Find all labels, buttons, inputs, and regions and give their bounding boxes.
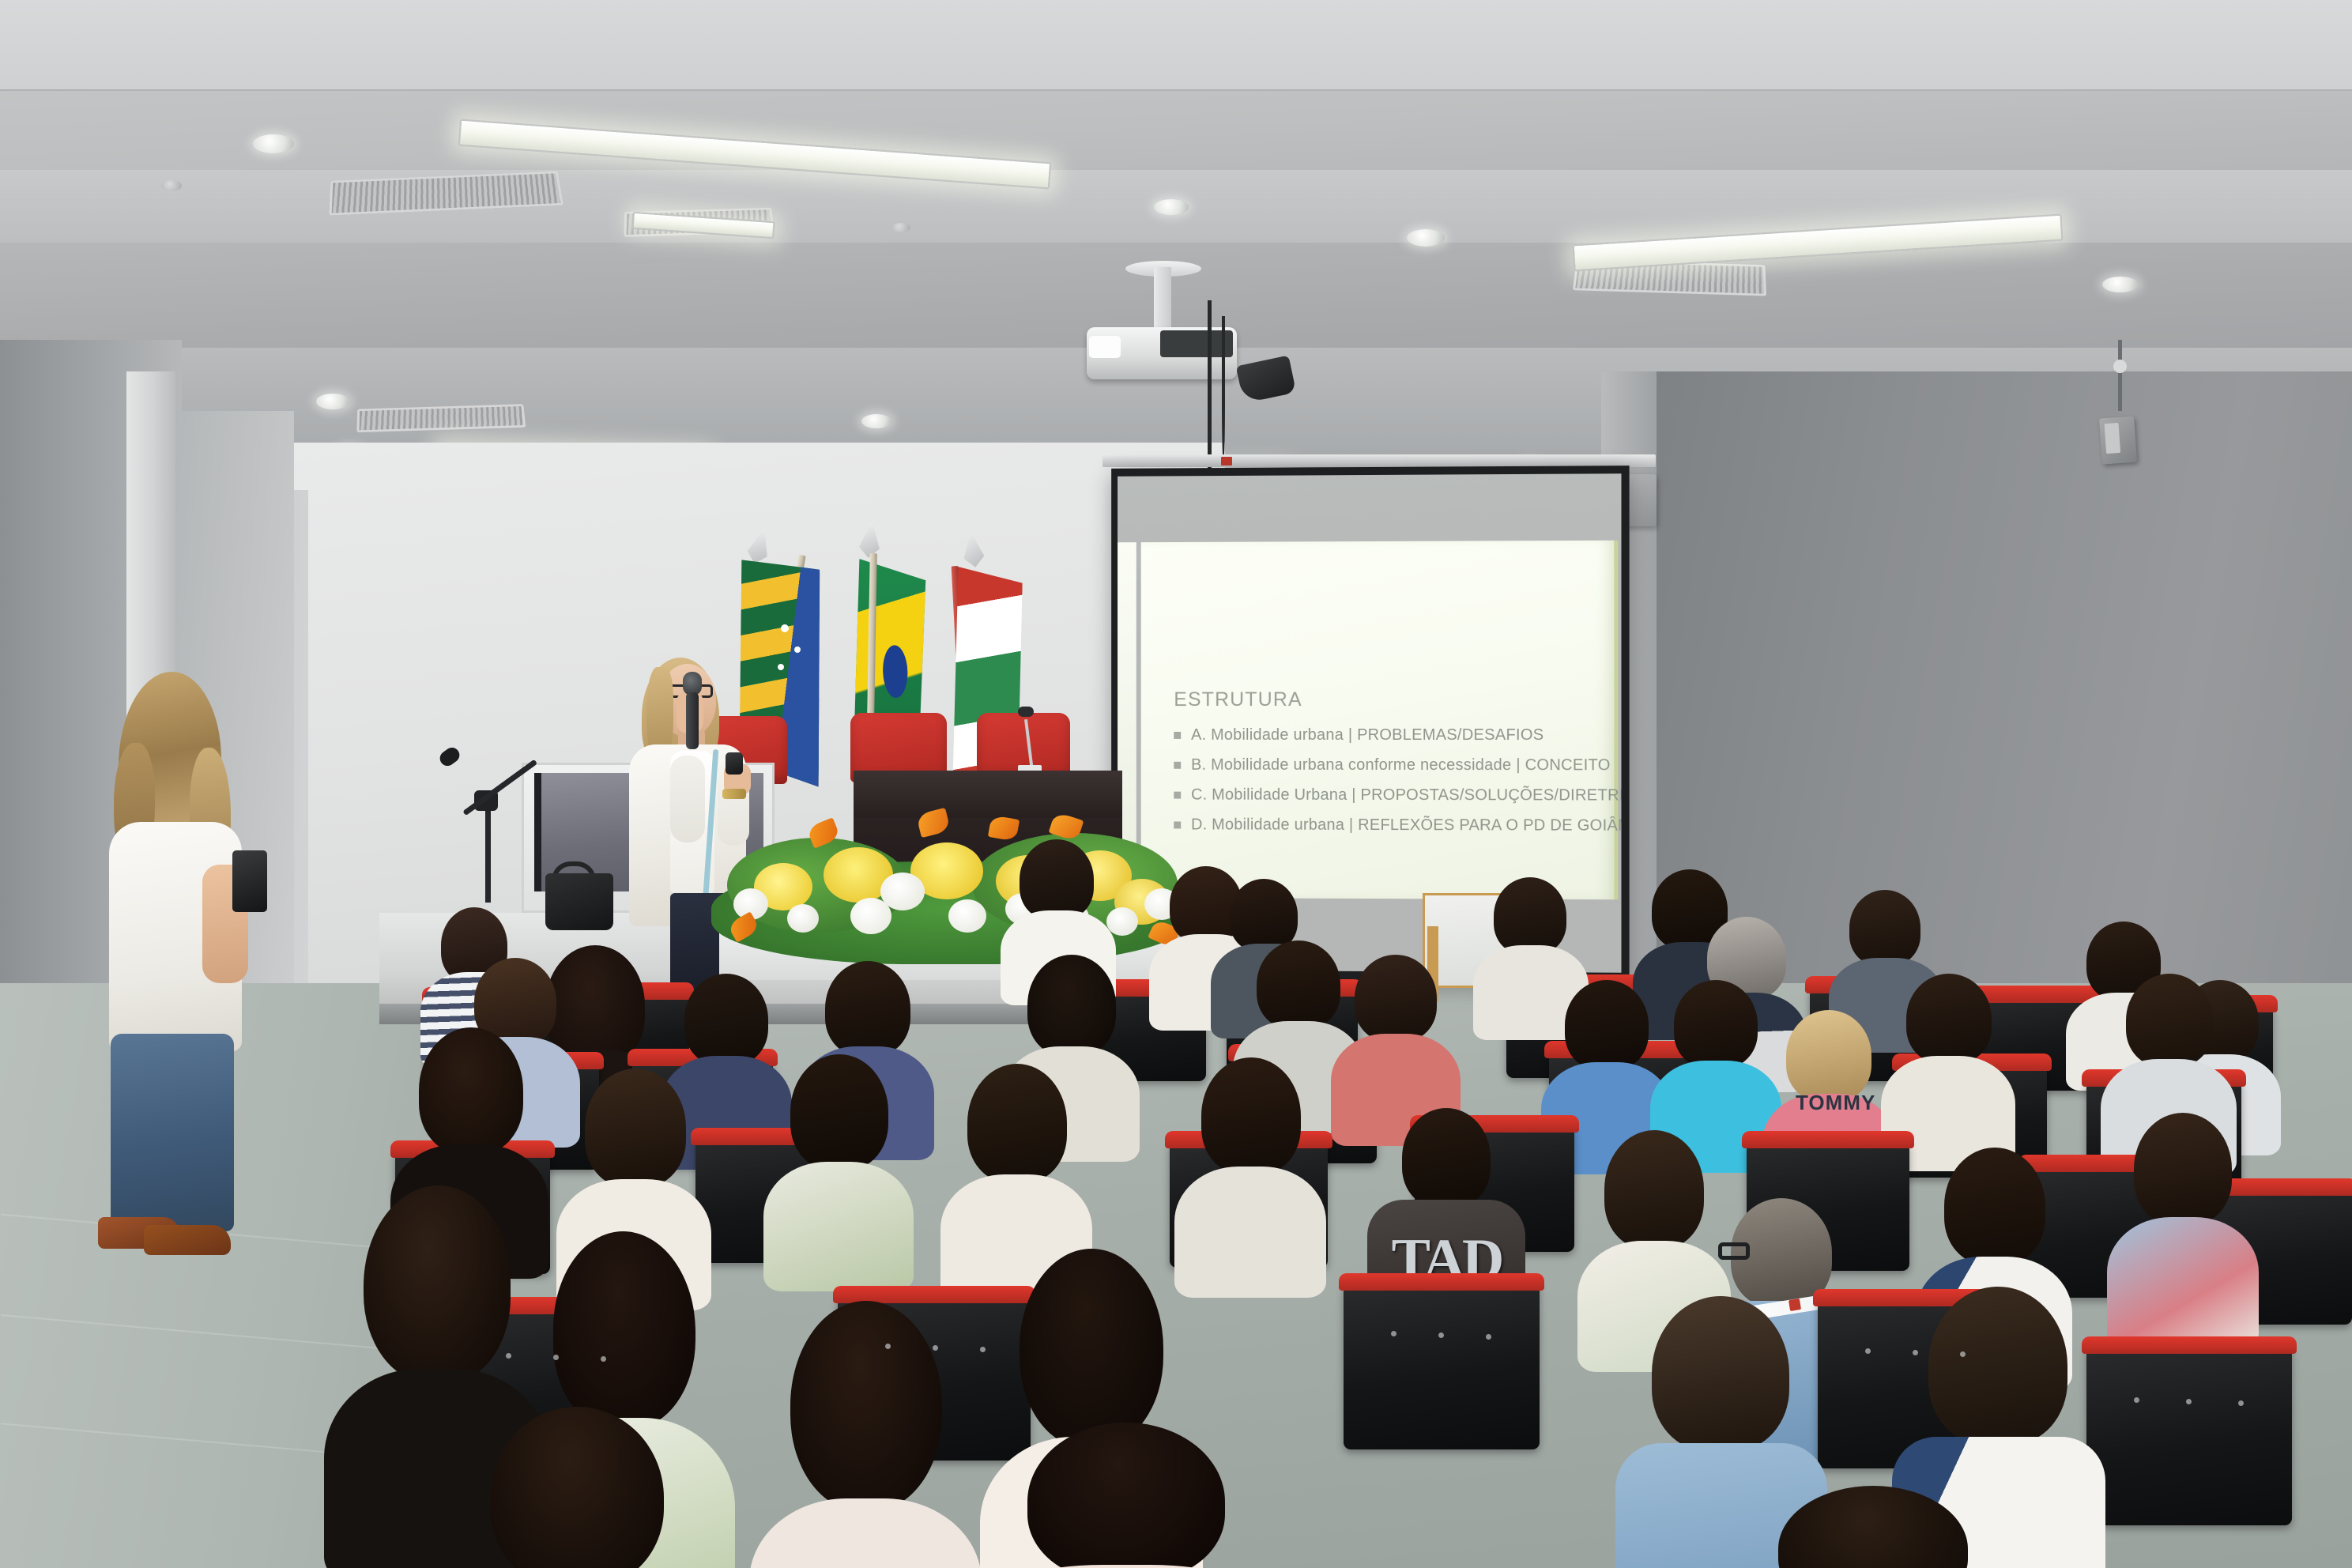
white-flower <box>948 899 986 933</box>
downlight-icon <box>316 394 349 409</box>
audience-hair <box>585 1069 686 1187</box>
white-flower <box>1106 907 1138 936</box>
audience-hair <box>1849 890 1920 966</box>
slide-bullet-item: C. Mobilidade Urbana | PROPOSTAS/SOLUÇÕE… <box>1174 786 1600 805</box>
slide-clicker-icon[interactable] <box>726 752 743 775</box>
slide-title: ESTRUTURA <box>1174 688 1600 711</box>
chair-stud <box>506 1353 511 1359</box>
auditorium-chair[interactable] <box>1344 1280 1540 1449</box>
slide-bullet-item: A. Mobilidade urbana | PROBLEMAS/DESAFIO… <box>1174 726 1600 744</box>
audience-hair <box>1402 1108 1491 1208</box>
outlet-face <box>2105 423 2121 454</box>
audience-hair <box>1230 879 1298 952</box>
audience-hair <box>1257 940 1340 1029</box>
audience-hair <box>1652 1296 1789 1451</box>
auditorium-scene: ESTRUTURA A. Mobilidade urbana | PROBLEM… <box>0 0 2352 1568</box>
screen-brand-mark <box>1221 457 1232 465</box>
microphone-handle <box>686 692 699 749</box>
attendee-jeans <box>111 1034 234 1231</box>
chair-stud <box>1391 1331 1396 1336</box>
audience-hair <box>1201 1057 1301 1174</box>
chair-stud <box>1960 1351 1966 1357</box>
smoke-detector-icon <box>161 180 182 191</box>
chair-stud <box>2186 1399 2192 1404</box>
black-bag <box>545 873 613 930</box>
audience-hair <box>1906 974 1992 1064</box>
chair-stud <box>933 1345 938 1351</box>
microphone-stand-pole <box>485 800 491 903</box>
audience-top <box>1174 1167 1326 1298</box>
tommy-shirt-label: TOMMY <box>1796 1091 1875 1115</box>
white-flower <box>880 873 925 910</box>
slide-item-b: B. Mobilidade urbana conforme necessidad… <box>1191 756 1611 775</box>
attendee-shoe <box>144 1225 231 1255</box>
goias-flag-star <box>781 624 789 632</box>
downlight-icon <box>861 414 891 428</box>
downlight-icon <box>1154 199 1189 215</box>
audience-hair <box>2126 974 2213 1067</box>
goias-flag-star <box>794 646 801 653</box>
audience-hair <box>364 1185 511 1383</box>
bullet-square-icon <box>1174 762 1181 769</box>
chair-stud <box>601 1356 606 1362</box>
downlight-icon <box>1407 229 1445 247</box>
projector-lens-icon <box>1089 336 1121 358</box>
orange-flower <box>988 815 1020 842</box>
chair-stud <box>553 1355 559 1360</box>
orange-flower <box>916 808 951 838</box>
wall-outlet-box[interactable] <box>2099 416 2137 465</box>
audience-hair <box>1027 1423 1225 1568</box>
audience-hair <box>1786 1010 1871 1102</box>
audience-top <box>763 1162 914 1291</box>
conduit-knob <box>2113 360 2127 373</box>
slide-item-c: C. Mobilidade Urbana | PROPOSTAS/SOLUÇÕE… <box>1191 786 1621 805</box>
bullet-square-icon <box>1174 732 1181 739</box>
downlight-icon <box>2102 277 2139 292</box>
audience-hair <box>1020 1249 1163 1448</box>
bullet-square-icon <box>1174 792 1181 799</box>
audience-hair <box>790 1301 942 1511</box>
projector-cable <box>1222 316 1225 458</box>
audience-top <box>2107 1217 2259 1348</box>
audience-note: Seated audience filling black-and-red au… <box>0 0 26 1</box>
projector-mount-pole <box>1154 267 1171 329</box>
downlight-icon <box>253 134 294 153</box>
wristwatch-icon <box>722 789 746 799</box>
eyeglasses-icon <box>1718 1242 1750 1260</box>
conduit-pipe <box>2118 340 2122 411</box>
tablet-device-icon[interactable] <box>232 850 267 912</box>
standing-attendee <box>95 672 277 1257</box>
smoke-detector-icon <box>891 223 910 232</box>
chair-stud <box>1865 1348 1871 1354</box>
slide-bullet-item: B. Mobilidade urbana conforme necessidad… <box>1174 756 1600 775</box>
audience-hair <box>967 1064 1067 1182</box>
chair-stud <box>2238 1400 2244 1406</box>
audience-hair <box>1944 1148 2045 1265</box>
audience-hair <box>825 961 910 1056</box>
slide-bullet-item: D. Mobilidade urbana | REFLEXÕES PARA O … <box>1174 816 1600 835</box>
chair-stud <box>1486 1334 1491 1340</box>
audience-hair <box>1355 955 1437 1042</box>
audience-hair <box>1020 839 1094 920</box>
chair-stud <box>2134 1397 2139 1403</box>
slide-body: ESTRUTURA A. Mobilidade urbana | PROBLEM… <box>1174 688 1600 847</box>
white-flower <box>787 904 819 933</box>
audience-hair <box>790 1054 888 1170</box>
audience-hair <box>419 1027 523 1154</box>
chair-stud <box>980 1347 986 1352</box>
audience-hair <box>2134 1113 2232 1225</box>
chair-stud <box>1913 1350 1918 1355</box>
audience-hair <box>1565 980 1649 1070</box>
presenter-arm-left <box>670 756 705 842</box>
audience-hair <box>1027 955 1116 1056</box>
slide-item-a: A. Mobilidade urbana | PROBLEMAS/DESAFIO… <box>1191 726 1543 744</box>
lanyard-logo-icon <box>1788 1298 1801 1311</box>
slide-item-d: D. Mobilidade urbana | REFLEXÕES PARA O … <box>1191 816 1621 835</box>
audience-hair <box>684 974 768 1065</box>
audience-hair <box>1494 877 1566 955</box>
gooseneck-microphone-icon <box>1018 707 1034 717</box>
chair-stud <box>885 1344 891 1349</box>
audience-hair <box>553 1231 695 1429</box>
chair-stud <box>1438 1332 1444 1338</box>
audience-hair <box>1674 980 1758 1069</box>
ceiling-soffit-front <box>0 0 2352 91</box>
audience-hair <box>1928 1287 2067 1445</box>
auditorium-chair[interactable] <box>2086 1344 2292 1525</box>
slide-canvas: ESTRUTURA A. Mobilidade urbana | PROBLEM… <box>1141 541 1619 899</box>
audience-hair <box>1604 1130 1704 1249</box>
